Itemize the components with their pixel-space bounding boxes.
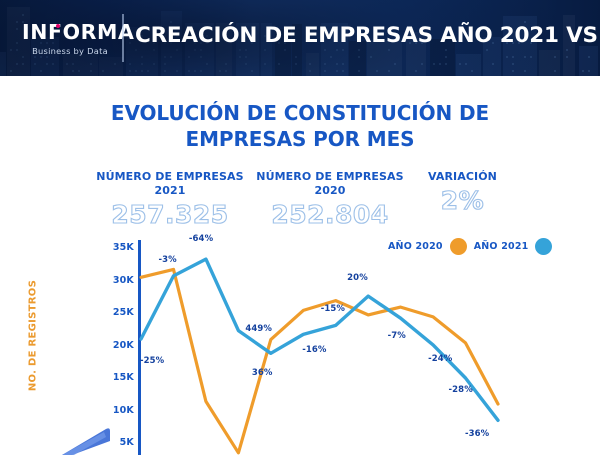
data-point-label: 20% <box>347 273 368 283</box>
chart-plot <box>0 0 600 455</box>
logo-tagline: Business by Data <box>22 47 118 55</box>
logo-wordmark: INFORMA <box>22 22 134 43</box>
decorative-arrow-icon <box>60 425 112 455</box>
data-point-label: -28% <box>449 385 473 395</box>
data-point-label: 36% <box>252 368 273 378</box>
header-divider <box>122 14 124 62</box>
data-point-label: -64% <box>189 234 213 244</box>
data-point-label: -25% <box>140 356 164 366</box>
informa-logo: INFORMA Business by Data <box>22 22 118 55</box>
data-point-label: -7% <box>388 331 406 341</box>
series-line-2021 <box>141 259 498 420</box>
logo-dot-icon <box>56 24 61 29</box>
data-point-label: -36% <box>465 429 489 439</box>
data-point-label: -16% <box>302 345 326 355</box>
data-point-label: -24% <box>428 354 452 364</box>
data-point-label: 449% <box>245 324 272 334</box>
data-point-label: -3% <box>158 255 176 265</box>
data-point-label: -15% <box>321 304 345 314</box>
header-title: CREACIÓN DE EMPRESAS AÑO 2021 VS 2020 <box>135 24 585 48</box>
